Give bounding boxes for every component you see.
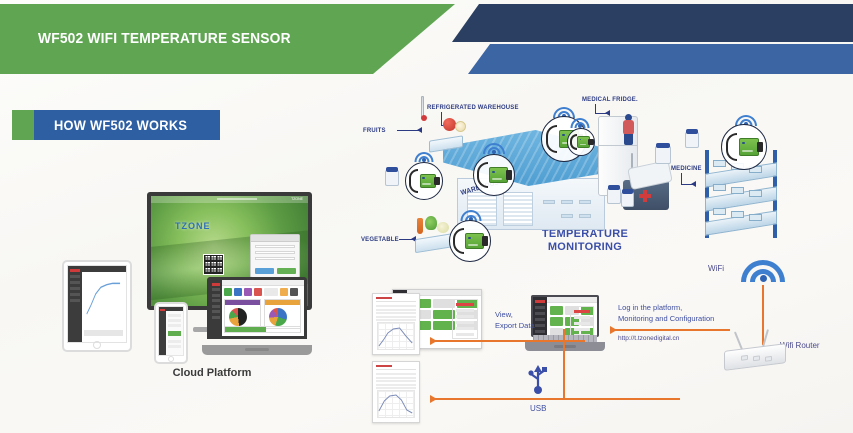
wifi-signal-icon (413, 150, 435, 162)
arrow-head-icon (610, 326, 617, 334)
wifi-signal-icon (481, 140, 507, 154)
wf502-sensor-medical-fridge (567, 128, 595, 156)
wifi-signal-icon (569, 116, 591, 128)
view-export-line-2: Export Data (495, 321, 535, 330)
login-dialog (250, 234, 300, 278)
section-banner: HOW WF502 WORKS (12, 110, 220, 140)
laptop-device (202, 277, 312, 355)
user-laptop (525, 295, 605, 351)
label-login-platform: Log in the platform, Monitoring and Conf… (618, 303, 714, 325)
arrow-head-icon (430, 395, 437, 403)
carrot-icon (417, 218, 423, 234)
data-flow-group: WiFi Wifi Router (370, 283, 853, 433)
section-title: HOW WF502 WORKS (54, 118, 187, 133)
apple-slice-icon (455, 121, 466, 132)
header-navy-shape (452, 4, 853, 42)
label-wifi: WiFi (708, 263, 724, 275)
tablet-device (62, 260, 132, 352)
medicine-jar (655, 146, 671, 164)
wf502-sensor-fruits (405, 162, 443, 200)
cloud-platform-group: TZONE TZONE (62, 182, 362, 382)
laptop-dashboard (533, 297, 597, 335)
wf502-sensor-warehouse-left (473, 154, 515, 196)
apple-icon (443, 118, 456, 131)
label-medicine: MEDICINE (671, 165, 702, 172)
flow-arrow-usb (430, 398, 680, 400)
medicine-jar (621, 192, 634, 207)
wifi-big-icon (740, 256, 786, 282)
poster-canvas: WF502 WIFI TEMPERATURE SENSOR HOW WF502 … (0, 0, 853, 433)
medicine-jar (607, 188, 621, 204)
cloud-platform-caption: Cloud Platform (62, 367, 362, 379)
label-medical-fridge: MEDICAL FRIDGE. (582, 96, 638, 103)
person-icon (621, 114, 635, 146)
label-usb: USB (530, 403, 546, 415)
phone-device (154, 302, 188, 364)
header-banner: WF502 WIFI TEMPERATURE SENSOR (0, 0, 853, 78)
medicine-jar (685, 132, 699, 148)
section-accent-bar (12, 110, 34, 140)
monitor-topbar: TZONE (151, 196, 308, 203)
label-refrigerated-warehouse: REFRIGERATED WAREHOUSE (427, 104, 519, 111)
wf502-sensor-vegetable (449, 220, 491, 262)
wifi-router (724, 337, 786, 367)
qr-code-icon (203, 254, 224, 275)
tzone-logo: TZONE (175, 221, 211, 231)
greens-icon (425, 216, 437, 230)
router-uplink (762, 285, 764, 345)
laptop-uplink (563, 329, 565, 351)
flow-arrow-login (610, 329, 730, 331)
usb-downlink (563, 351, 565, 399)
container-icon (385, 170, 399, 186)
arrow-head-icon (430, 337, 437, 345)
thermometer-icon (421, 96, 424, 118)
login-line-1: Log in the platform, (618, 303, 682, 312)
report-document-bottom (372, 361, 420, 423)
label-vegetable: VEGETABLE (361, 236, 399, 243)
label-fruits: FRUITS (363, 127, 386, 134)
login-line-2: Monitoring and Configuration (618, 314, 714, 323)
header-blue-shape (468, 44, 853, 74)
section-banner-body: HOW WF502 WORKS (34, 110, 220, 140)
heading-line-2: MONITORING (548, 241, 622, 253)
view-export-line-1: View, (495, 310, 513, 319)
report-document-top (372, 293, 420, 355)
wf502-sensor-medicine (721, 124, 767, 170)
usb-icon (525, 361, 551, 395)
platform-url[interactable]: http://t.tzonedigital.cn (618, 335, 679, 342)
label-view-export: View, Export Data (495, 310, 535, 332)
flow-arrow-view-export (430, 340, 585, 342)
page-title: WF502 WIFI TEMPERATURE SENSOR (38, 30, 291, 47)
cabbage-icon (437, 222, 449, 233)
